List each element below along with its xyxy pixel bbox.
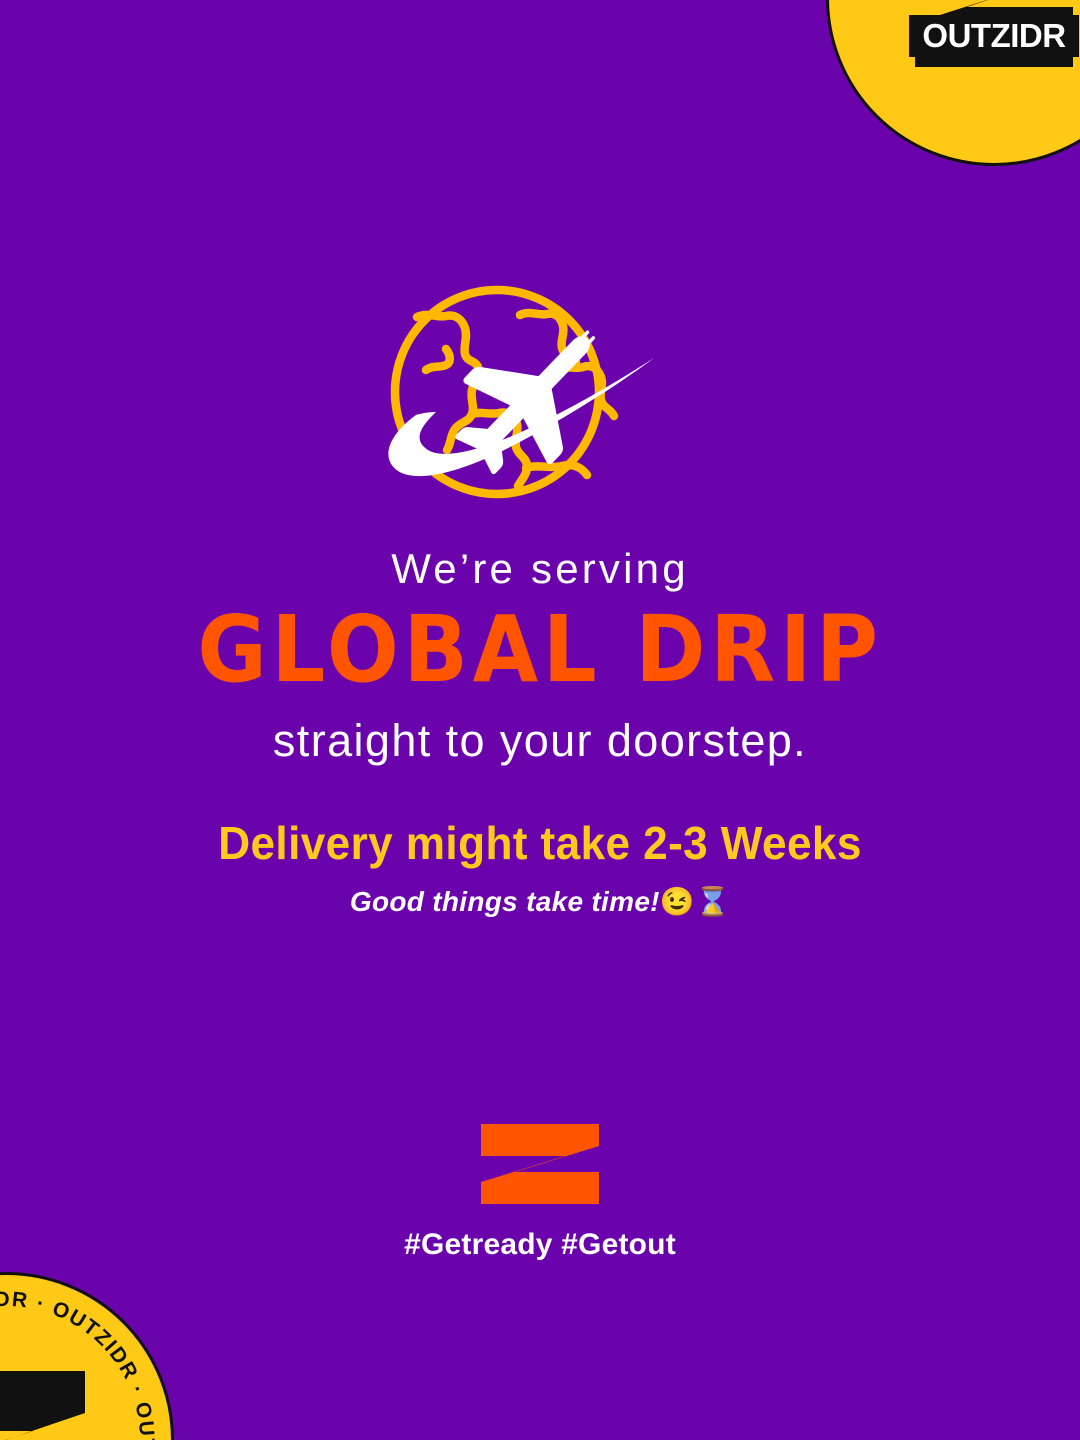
headline-text: GLOBAL DRIP bbox=[43, 604, 1037, 696]
seal-z-mark-top-right: OUTZIDR bbox=[901, 0, 1080, 73]
brand-seal-top-right: OUTZIDR · OUTZIDR · OUTZIDR · OUTZIDR · … bbox=[826, 0, 1080, 166]
globe-airplane-icon bbox=[354, 272, 726, 520]
brand-seal-bottom-left: OUTZIDR · OUTZIDR · OUTZIDR · OUTZIDR · … bbox=[0, 1272, 174, 1440]
seal-z-mark-bottom-left: OUTZIDR bbox=[0, 1365, 99, 1440]
headline-block: We’re serving GLOBAL DRIP straight to yo… bbox=[0, 548, 1080, 763]
seal-wordmark-top-right: OUTZIDR bbox=[922, 17, 1066, 54]
brand-tagline: #Getready #Getout bbox=[0, 1230, 1080, 1260]
footer-brand-lockup: #Getready #Getout bbox=[0, 1122, 1080, 1260]
promo-poster: OUTZIDR · OUTZIDR · OUTZIDR · OUTZIDR · … bbox=[0, 0, 1080, 1440]
reassurance-emoji: 😉⌛ bbox=[660, 886, 730, 917]
eyebrow-text: We’re serving bbox=[0, 548, 1080, 590]
reassurance-line: Good things take time!😉⌛ bbox=[0, 888, 1080, 916]
subline-text: straight to your doorstep. bbox=[0, 718, 1080, 763]
delivery-estimate-text: Delivery might take 2-3 Weeks bbox=[22, 820, 1059, 866]
reassurance-text: Good things take time! bbox=[350, 886, 660, 917]
brand-z-logo-icon bbox=[479, 1122, 601, 1206]
delivery-notice-block: Delivery might take 2-3 Weeks Good thing… bbox=[0, 820, 1080, 916]
